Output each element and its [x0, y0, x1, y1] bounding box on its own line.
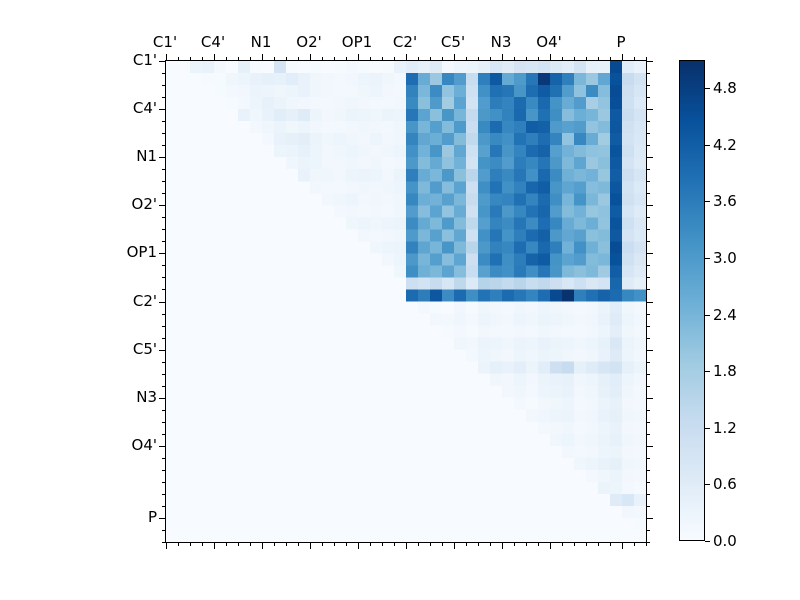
xaxis-tick-label: OP1	[342, 33, 372, 51]
colorbar-tick	[705, 315, 710, 316]
colorbar-tick	[705, 201, 710, 202]
colorbar-tick-label: 4.8	[713, 79, 737, 97]
heatmap-matrix	[166, 61, 646, 542]
xaxis-tick-label: P	[616, 33, 625, 51]
xaxis-tick-label: N1	[251, 33, 272, 51]
heatmap-plot-area	[165, 60, 647, 543]
colorbar-tick-label: 1.2	[713, 419, 737, 437]
colorbar-tick	[705, 258, 710, 259]
xaxis-tick-label: N3	[491, 33, 512, 51]
colorbar-tick-label: 3.0	[713, 249, 737, 267]
xaxis-tick-label: C5'	[441, 33, 465, 51]
yaxis-tick-label: C1'	[105, 51, 157, 69]
xaxis-tick-label: O4'	[536, 33, 561, 51]
colorbar-tick	[705, 371, 710, 372]
yaxis-tick-label: OP1	[105, 243, 157, 261]
xaxis-tick-label: C1'	[153, 33, 177, 51]
colorbar-tick	[705, 484, 710, 485]
colorbar-tick	[705, 541, 710, 542]
colorbar-tick	[705, 145, 710, 146]
yaxis-tick-label: C5'	[105, 340, 157, 358]
colorbar-tick	[705, 88, 710, 89]
yaxis-tick-label: N3	[105, 388, 157, 406]
xaxis-tick-label: O2'	[296, 33, 321, 51]
xaxis-tick-label: C2'	[393, 33, 417, 51]
yaxis-tick-label: C2'	[105, 292, 157, 310]
yaxis-tick-label: O2'	[105, 195, 157, 213]
colorbar-tick-label: 3.6	[713, 192, 737, 210]
yaxis-tick-label: P	[105, 508, 157, 526]
colorbar-tick	[705, 428, 710, 429]
colorbar-tick-label: 0.6	[713, 475, 737, 493]
colorbar-tick-label: 0.0	[713, 532, 737, 550]
colorbar-gradient	[679, 60, 705, 541]
yaxis-tick-label: O4'	[105, 436, 157, 454]
heatmap-figure: C1'C4'N1O2'OP1C2'C5'N3O4'P C1'C4'N1O2'OP…	[0, 0, 800, 600]
colorbar: 0.00.61.21.82.43.03.64.24.8	[679, 60, 705, 541]
yaxis-tick-label: N1	[105, 147, 157, 165]
colorbar-tick-label: 4.2	[713, 136, 737, 154]
yaxis-tick-label: C4'	[105, 99, 157, 117]
xaxis-tick-label: C4'	[201, 33, 225, 51]
colorbar-tick-label: 1.8	[713, 362, 737, 380]
colorbar-tick-label: 2.4	[713, 306, 737, 324]
